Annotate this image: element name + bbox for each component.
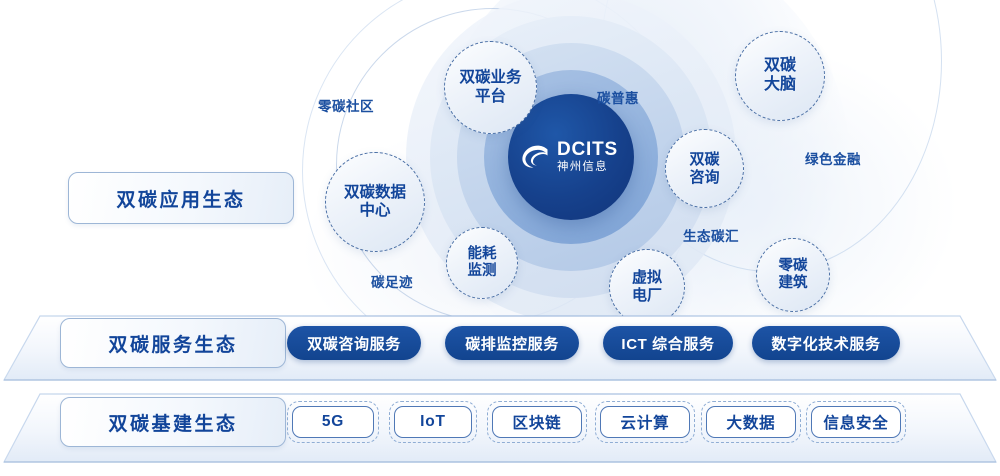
service-pill-3[interactable]: ICT 综合服务 xyxy=(603,326,733,360)
infra-pill-2-label: IoT xyxy=(394,406,472,438)
service-pill-4[interactable]: 数字化技术服务 xyxy=(752,326,900,360)
bubble-shuangtan-dalao[interactable]: 双碳 大脑 xyxy=(735,31,825,121)
bubble-line-2: 大脑 xyxy=(764,76,796,95)
bubble-line-1: 双碳 xyxy=(689,151,719,169)
infra-pill-3[interactable]: 区块链 xyxy=(487,401,587,443)
label-shengtai-tanhui: 生态碳汇 xyxy=(683,225,739,245)
infra-pill-2[interactable]: IoT xyxy=(389,401,477,443)
service-pill-2[interactable]: 碳排监控服务 xyxy=(445,326,579,360)
bubble-line-2: 建筑 xyxy=(779,275,808,292)
bubble-line-2: 咨询 xyxy=(689,169,719,187)
infra-pill-5[interactable]: 大数据 xyxy=(701,401,801,443)
label-lvse-jinrong: 绿色金融 xyxy=(805,148,861,168)
dcits-logo-text: DCITS 神州信息 xyxy=(557,140,618,174)
bubble-line-2: 平台 xyxy=(459,88,521,106)
service-pill-1[interactable]: 双碳咨询服务 xyxy=(287,326,421,360)
bubble-line-1: 虚拟 xyxy=(632,269,662,287)
infra-pill-1[interactable]: 5G xyxy=(287,401,379,443)
dcits-swoosh-icon xyxy=(520,144,550,170)
bubble-line-2: 中心 xyxy=(344,202,406,220)
layer-title-infrastructure[interactable]: 双碳基建生态 xyxy=(60,397,286,447)
service-band: 双碳服务生态 双碳咨询服务 碳排监控服务 ICT 综合服务 数字化技术服务 xyxy=(0,312,1000,384)
infra-pill-1-label: 5G xyxy=(292,406,374,438)
label-lingtan-shequ: 零碳社区 xyxy=(318,95,374,115)
bubble-shuangtan-yewu-pingtai[interactable]: 双碳业务 平台 xyxy=(444,41,537,134)
infra-pill-6-label: 信息安全 xyxy=(811,406,901,438)
bubble-line-2: 监测 xyxy=(468,263,497,280)
layer-title-service[interactable]: 双碳服务生态 xyxy=(60,318,286,368)
layer-title-application[interactable]: 双碳应用生态 xyxy=(68,172,294,224)
infra-pill-5-label: 大数据 xyxy=(706,406,796,438)
bubble-line-1: 双碳 xyxy=(764,57,796,76)
diagram-canvas: DCITS 神州信息 双碳业务 平台 双碳 大脑 双碳数据 中心 双碳 咨询 能… xyxy=(0,0,1000,476)
bubble-line-1: 零碳 xyxy=(779,258,808,275)
bubble-nenghao-jiance[interactable]: 能耗 监测 xyxy=(446,227,518,299)
bubble-line-2: 电厂 xyxy=(632,287,662,305)
infra-pill-4-label: 云计算 xyxy=(600,406,690,438)
logo-chinese: 神州信息 xyxy=(557,162,618,174)
bubble-shuangtan-zixun[interactable]: 双碳 咨询 xyxy=(665,129,744,208)
bubble-lingtan-jianzhu[interactable]: 零碳 建筑 xyxy=(756,238,830,312)
infrastructure-band: 双碳基建生态 5G IoT 区块链 云计算 大数据 信息安全 xyxy=(0,390,1000,466)
label-tanpuhui: 碳普惠 xyxy=(597,87,639,107)
bubble-line-1: 双碳业务 xyxy=(459,69,521,87)
bubble-line-1: 能耗 xyxy=(468,246,497,263)
infra-pill-3-label: 区块链 xyxy=(492,406,582,438)
bubble-line-1: 双碳数据 xyxy=(344,184,406,202)
label-tanzuji: 碳足迹 xyxy=(371,271,413,291)
logo-english: DCITS xyxy=(557,140,618,159)
dcits-logo: DCITS 神州信息 xyxy=(520,140,618,174)
infra-pill-4[interactable]: 云计算 xyxy=(595,401,695,443)
infra-pill-6[interactable]: 信息安全 xyxy=(806,401,906,443)
bubble-shuangtan-shuju-zhongxin[interactable]: 双碳数据 中心 xyxy=(325,152,425,252)
